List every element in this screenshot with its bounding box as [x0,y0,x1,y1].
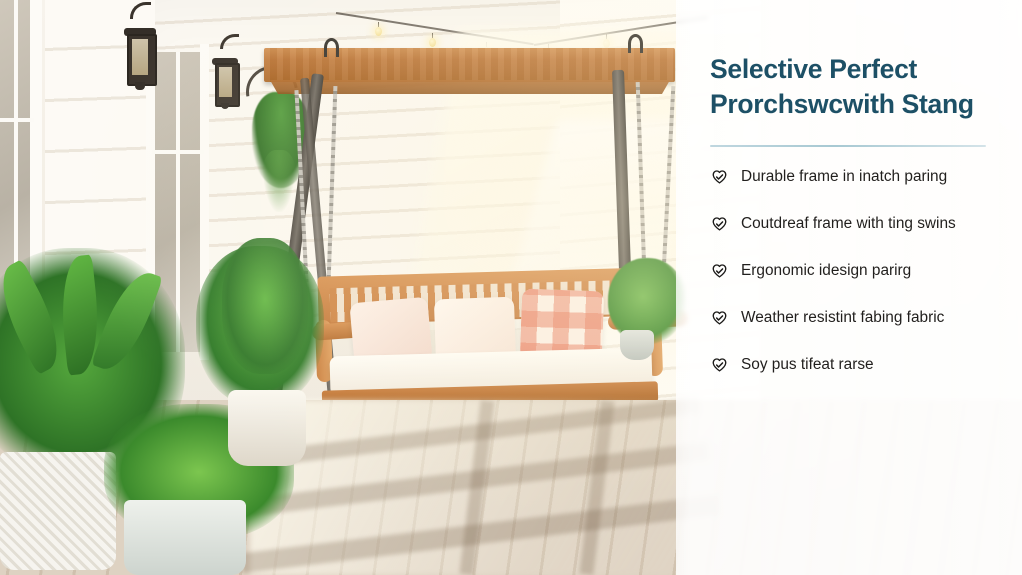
list-item: Soy pus tifeat rarse [710,354,1010,376]
check-badge-icon [710,356,729,375]
list-item: Coutdreaf frame with ting swins [710,213,1010,235]
list-item: Weather resistint fabing fabric [710,307,1010,329]
plant-basket-white [0,452,116,570]
beam-hanger [628,34,643,53]
swing-beam-underside [270,80,670,94]
list-item-label: Durable frame in inatch paring [741,166,947,188]
list-item: Ergonomic idesign parirg [710,260,1010,282]
feature-list: Durable frame in inatch paring Coutdreaf… [710,166,1010,400]
list-item-label: Weather resistint fabing fabric [741,307,944,329]
window-mullion [176,52,180,352]
check-badge-icon [710,309,729,328]
panel-content: Selective Perfect Prorchswcwith Stang Du… [710,0,1010,575]
list-item: Durable frame in inatch paring [710,166,1010,188]
list-item-label: Soy pus tifeat rarse [741,354,874,376]
string-light-bulb [429,38,436,47]
hanging-plant-trail [262,150,296,212]
title-divider [710,145,986,147]
plant-pot-mint [124,500,246,575]
plant-pot-gray [620,330,654,360]
infographic-canvas: Selective Perfect Prorchswcwith Stang Du… [0,0,1022,575]
plant-pot-cream [228,390,306,466]
list-item-label: Coutdreaf frame with ting swins [741,213,956,235]
plant-tall-back [222,238,308,374]
string-light-bulb [375,27,382,36]
check-badge-icon [710,262,729,281]
page-title-line-1: Selective Perfect [710,52,1012,87]
list-item-label: Ergonomic idesign parirg [741,260,911,282]
check-badge-icon [710,168,729,187]
page-title-line-2: Prorchswcwith Stang [710,87,1012,122]
beam-hanger [324,38,339,57]
check-badge-icon [710,215,729,234]
text-overlay-panel: Selective Perfect Prorchswcwith Stang Du… [676,0,1022,575]
page-title: Selective Perfect Prorchswcwith Stang [710,52,1012,122]
